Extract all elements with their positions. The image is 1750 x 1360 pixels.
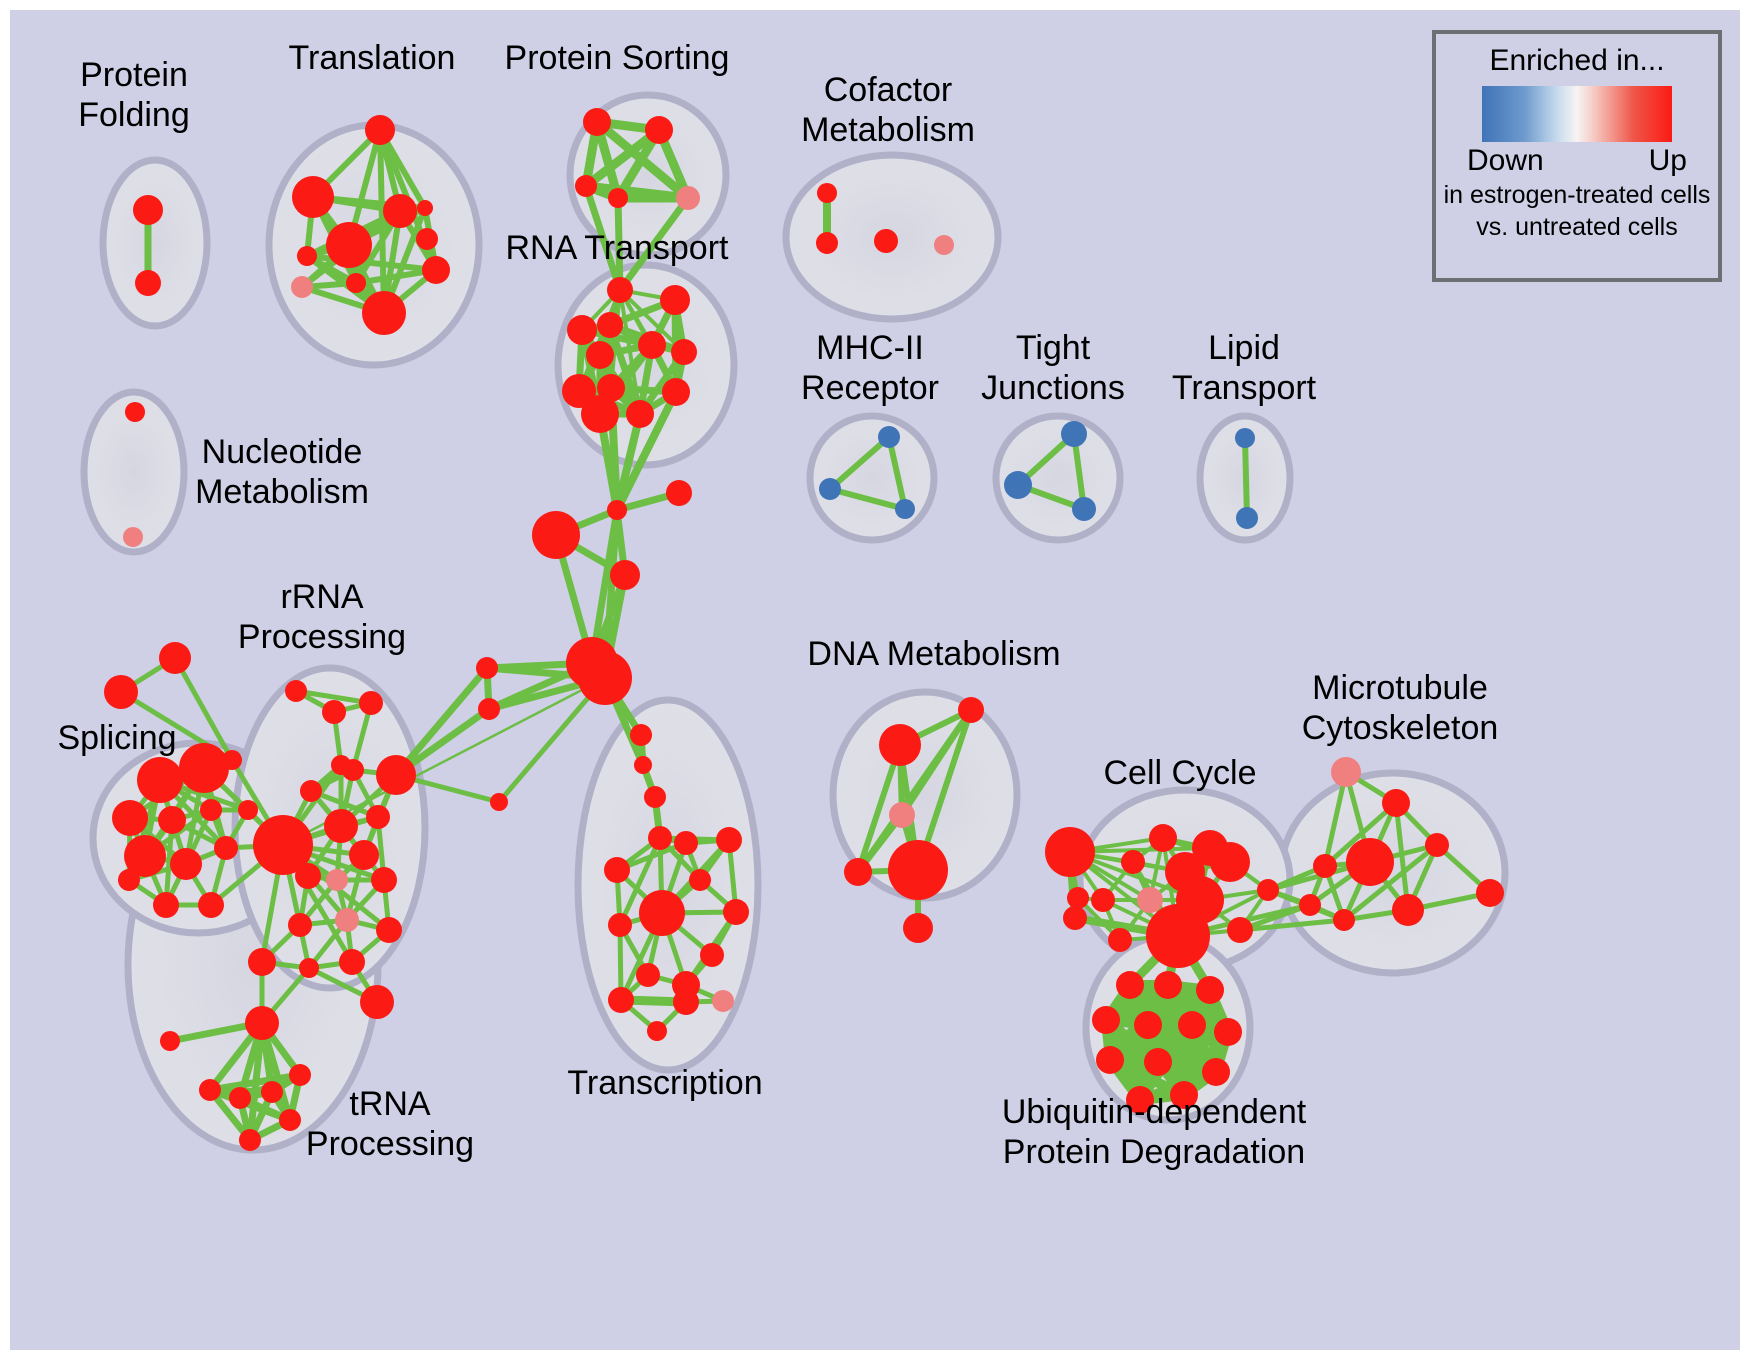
legend-caption-line2: vs. untreated cells: [1476, 212, 1678, 242]
legend-color-gradient: [1482, 86, 1672, 142]
hull-protein-folding: [103, 160, 207, 326]
legend-panel: Enriched in... Down Up in estrogen-treat…: [1432, 30, 1722, 282]
cluster-hulls: [84, 95, 1505, 1150]
figure-canvas: ProteinFolding Translation Protein Sorti…: [0, 0, 1750, 1360]
legend-title: Enriched in...: [1489, 44, 1664, 78]
legend-high-label: Up: [1649, 144, 1687, 178]
legend-low-label: Down: [1467, 144, 1544, 178]
legend-caption-line1: in estrogen-treated cells: [1444, 180, 1711, 210]
hull-mhc-ii-receptor: [810, 416, 934, 540]
